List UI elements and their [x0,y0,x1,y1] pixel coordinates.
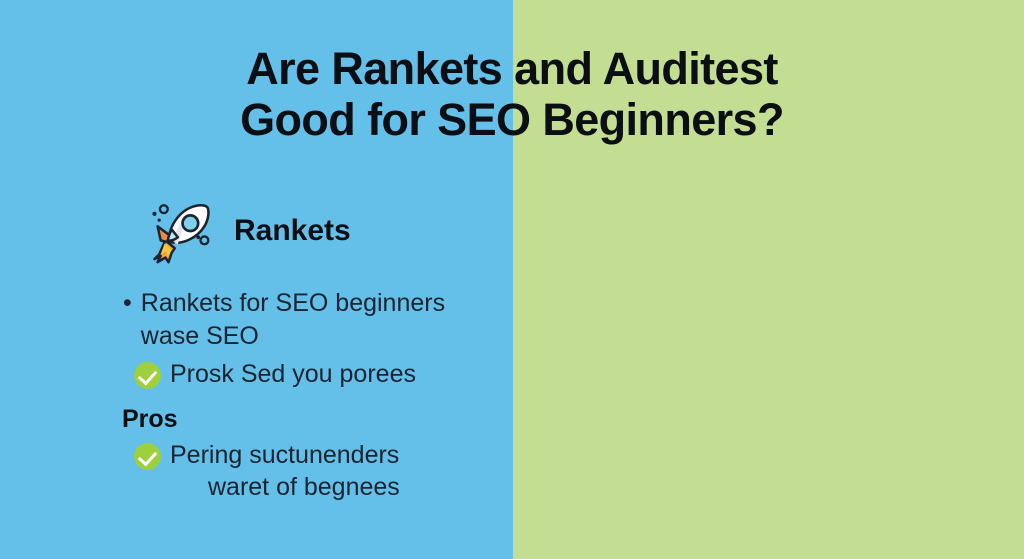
pros-heading: Pros [0,405,512,434]
rocket-icon [142,192,220,270]
check-circle-icon [134,362,161,389]
rankets-check-text: Prosk Sed you porees [170,358,416,391]
auditest-bullet-list: • Auditets and, Good yiul begimers • Tin… [512,287,1024,555]
title-line-2: Good for SEO Beginners? [0,95,1024,146]
title-line-1: Are Rankets and Auditest [0,44,1024,95]
pros-item-line-2: waret of begnees [170,471,400,504]
pros-item-line-1: Pering suctunenders [170,441,399,469]
pros-item: Pering suctunenders waret of begnees [0,439,512,504]
auditest-header: Auditest [512,185,1024,277]
bullet-dot-icon: • [123,287,132,352]
rankets-header: Rankets [0,185,512,277]
rankets-bullet-list: • Rankets for SEO beginners wase SEO [0,287,512,352]
list-item-text: Rankets for SEO beginners wase SEO [141,287,471,352]
rankets-brand-name: Rankets [234,214,351,248]
infographic-canvas: Are Rankets and Auditest Good for SEO Be… [0,0,1024,559]
check-circle-icon [134,443,161,470]
page-title: Are Rankets and Auditest Good for SEO Be… [0,44,1024,146]
list-item: • Rankets for SEO beginners wase SEO [123,287,512,352]
rankets-check-row: Prosk Sed you porees [0,358,512,391]
